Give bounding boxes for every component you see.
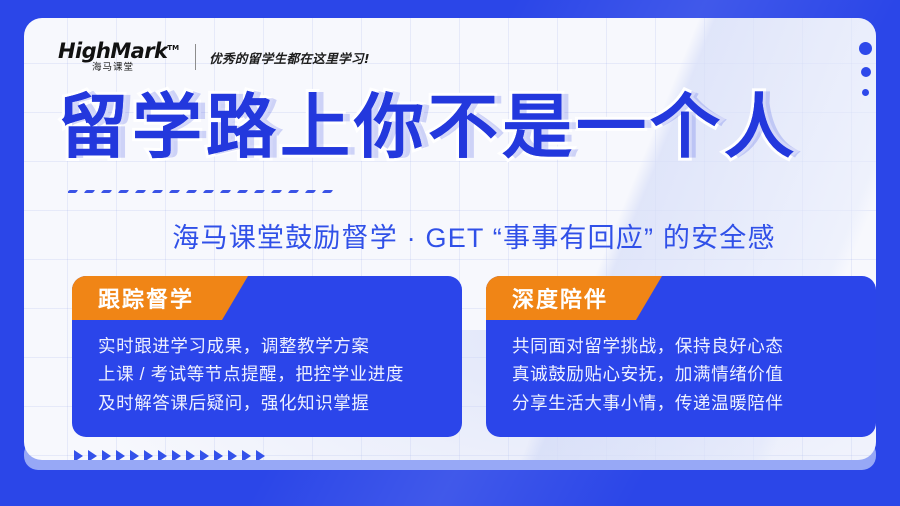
- dot-mark: [862, 89, 869, 96]
- feature-card-list: 跟踪督学 实时跟进学习成果，调整教学方案 上课 / 考试等节点提醒，把控学业进度…: [72, 276, 876, 437]
- card-line: 上课 / 考试等节点提醒，把控学业进度: [98, 360, 436, 388]
- card-body: 共同面对留学挑战，保持良好心态 真诚鼓励贴心安抚，加满情绪价值 分享生活大事小情…: [486, 332, 876, 417]
- dash-mark: [152, 190, 163, 193]
- arrow-right-icon: [186, 450, 195, 460]
- arrow-right-icon: [200, 450, 209, 460]
- card-line: 共同面对留学挑战，保持良好心态: [512, 332, 850, 360]
- dash-mark: [169, 190, 180, 193]
- arrow-right-icon: [172, 450, 181, 460]
- dot-mark: [859, 42, 872, 55]
- logo-chinese-name: 海马课堂: [92, 63, 134, 73]
- logo-divider: [195, 44, 196, 70]
- arrow-right-icon: [144, 450, 153, 460]
- arrow-right-icon: [228, 450, 237, 460]
- card-line: 分享生活大事小情，传递温暖陪伴: [512, 389, 850, 417]
- subtitle: 海马课堂鼓励督学 · GET “事事有回应” 的安全感: [24, 216, 876, 255]
- dash-mark: [68, 190, 78, 193]
- arrow-right-icon: [130, 450, 139, 460]
- logo-trademark: TM: [167, 44, 179, 52]
- dash-mark: [101, 190, 112, 193]
- arrow-right-icon: [158, 450, 167, 460]
- content-panel: HighMarkTM 海马课堂 优秀的留学生都在这里学习! 留学路上你不是一个人…: [24, 18, 876, 460]
- card-line: 真诚鼓励贴心安抚，加满情绪价值: [512, 360, 850, 388]
- arrow-right-icon: [102, 450, 111, 460]
- logo-wordmark: HighMarkTM: [58, 41, 179, 62]
- dash-mark: [322, 190, 333, 193]
- card-tab-label: 跟踪督学: [72, 276, 248, 320]
- feature-card: 深度陪伴 共同面对留学挑战，保持良好心态 真诚鼓励贴心安抚，加满情绪价值 分享生…: [486, 276, 876, 437]
- arrow-right-icon: [242, 450, 251, 460]
- dashed-divider: [68, 190, 868, 202]
- dash-mark: [220, 190, 231, 193]
- dash-mark: [305, 190, 316, 193]
- card-tab-label: 深度陪伴: [486, 276, 662, 320]
- arrow-decoration: [74, 450, 265, 460]
- card-body: 实时跟进学习成果，调整教学方案 上课 / 考试等节点提醒，把控学业进度 及时解答…: [72, 332, 462, 417]
- brand-tagline: 优秀的留学生都在这里学习!: [209, 48, 370, 67]
- dash-mark: [271, 190, 282, 193]
- dash-mark: [203, 190, 214, 193]
- dash-mark: [254, 190, 265, 193]
- arrow-right-icon: [256, 450, 265, 460]
- dash-mark: [288, 190, 299, 193]
- dash-mark: [84, 190, 95, 193]
- page-title: 留学路上你不是一个人: [58, 92, 876, 162]
- feature-card: 跟踪督学 实时跟进学习成果，调整教学方案 上课 / 考试等节点提醒，把控学业进度…: [72, 276, 462, 437]
- dot-mark: [861, 67, 871, 77]
- arrow-right-icon: [116, 450, 125, 460]
- arrow-right-icon: [88, 450, 97, 460]
- logo-wordmark-text: HighMark: [58, 39, 167, 63]
- logo: HighMarkTM 海马课堂: [52, 41, 179, 73]
- arrow-right-icon: [74, 450, 83, 460]
- poster-canvas: HighMarkTM 海马课堂 优秀的留学生都在这里学习! 留学路上你不是一个人…: [0, 0, 900, 506]
- dot-decoration: [859, 42, 872, 96]
- dash-mark: [118, 190, 129, 193]
- arrow-right-icon: [214, 450, 223, 460]
- dash-mark: [186, 190, 197, 193]
- card-line: 实时跟进学习成果，调整教学方案: [98, 332, 436, 360]
- brand-header: HighMarkTM 海马课堂 优秀的留学生都在这里学习!: [52, 38, 370, 76]
- card-line: 及时解答课后疑问，强化知识掌握: [98, 389, 436, 417]
- dash-mark: [135, 190, 146, 193]
- dash-mark: [237, 190, 248, 193]
